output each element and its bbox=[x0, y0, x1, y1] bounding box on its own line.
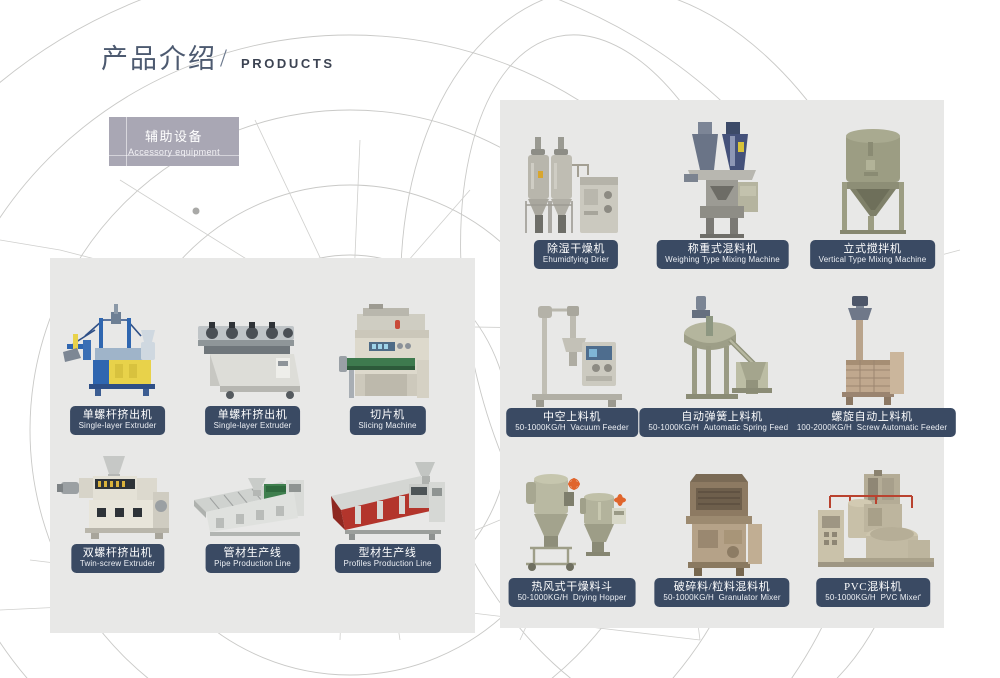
product-name-en-text: Drying Hopper bbox=[573, 593, 627, 602]
vertical-mixing-machine-image bbox=[820, 120, 925, 240]
product-name-en: Pipe Production Line bbox=[214, 559, 291, 569]
single-layer-extruder-image bbox=[190, 300, 315, 405]
product-name-cn: 切片机 bbox=[358, 409, 416, 421]
product-name-en-text: Vacuum Feeder bbox=[571, 423, 629, 432]
product-cell[interactable]: PVC混料机 50-1000KG/H PVC Mixeґ bbox=[808, 468, 938, 608]
product-spec: 50-1000KG/H bbox=[825, 593, 876, 602]
product-label: 破碎料/粒料混料机 50-1000KG/H Granulator Mixer bbox=[654, 578, 789, 607]
product-name-cn: 除湿干燥机 bbox=[543, 243, 609, 255]
product-name-en: Weighing Type Mixing Machine bbox=[665, 255, 780, 265]
product-catalog-page: 产品介绍 / PRODUCTS 辅助设备 Accessory equipment bbox=[0, 0, 1000, 678]
product-label: 单螺杆挤出机 Single-layer Extruder bbox=[70, 406, 166, 435]
product-cell[interactable]: 单螺杆挤出机 Single-layer Extruder bbox=[190, 300, 315, 435]
product-name-cn: 称重式混料机 bbox=[665, 243, 780, 255]
product-label: 切片机 Slicing Machine bbox=[349, 406, 425, 435]
slicing-machine-image bbox=[325, 300, 450, 405]
product-label: 自动弹簧上料机 50-1000KG/H Automatic Spring Fee… bbox=[639, 408, 804, 437]
granulator-mixer-image bbox=[662, 468, 782, 580]
product-name-en: Single-layer Extruder bbox=[214, 421, 292, 431]
automatic-spring-feeder-image bbox=[662, 290, 782, 410]
product-name-en: Profiles Production Line bbox=[343, 559, 431, 569]
weighing-mixing-machine-image bbox=[670, 118, 775, 240]
product-cell[interactable]: 型材生产线 Profiles Production Line bbox=[325, 448, 450, 573]
product-cell[interactable]: 自动弹簧上料机 50-1000KG/H Automatic Spring Fee… bbox=[662, 290, 782, 440]
product-name-en: Twin-screw Extruder bbox=[80, 559, 155, 569]
product-label: 除湿干燥机 Ehumidfying Drier bbox=[534, 240, 618, 269]
product-name-en-text: Automatic Spring Feeder bbox=[704, 423, 796, 432]
product-name-cn: 双螺杆挤出机 bbox=[80, 547, 155, 559]
product-spec: 50-1000KG/H bbox=[663, 593, 714, 602]
page-title-cn: 产品介绍 bbox=[101, 46, 217, 73]
product-cell[interactable]: 切片机 Slicing Machine bbox=[325, 300, 450, 435]
product-name-en-text: Granulator Mixer bbox=[719, 593, 781, 602]
product-name-en: Slicing Machine bbox=[358, 421, 416, 431]
product-name-en: Ehumidfying Drier bbox=[543, 255, 609, 265]
product-label: 双螺杆挤出机 Twin-screw Extruder bbox=[71, 544, 164, 573]
product-name-cn: 螺旋自动上料机 bbox=[797, 411, 947, 423]
single-layer-extruder-image bbox=[55, 300, 180, 405]
product-spec: 50-1000KG/H bbox=[515, 423, 566, 432]
product-name-en-text: PVC Mixeґ bbox=[881, 593, 921, 602]
product-cell[interactable]: 破碎料/粒料混料机 50-1000KG/H Granulator Mixer bbox=[662, 468, 782, 608]
product-name-en: 50-1000KG/H Drying Hopper bbox=[518, 593, 627, 603]
fan-icon bbox=[568, 478, 580, 490]
drying-hopper-image bbox=[512, 468, 632, 580]
product-cell[interactable]: 螺旋自动上料机 100-2000KG/H Screw Automatic Fee… bbox=[812, 290, 932, 440]
product-label: 管材生产线 Pipe Production Line bbox=[205, 544, 300, 573]
product-cell[interactable]: 中空上料机 50-1000KG/H Vacuum Feeder bbox=[512, 290, 632, 440]
product-spec: 50-1000KG/H bbox=[518, 593, 569, 602]
dehumidifying-drier-image bbox=[520, 125, 632, 240]
product-label: 立式搅拌机 Vertical Type Mixing Machine bbox=[810, 240, 936, 269]
product-name-cn: 型材生产线 bbox=[343, 547, 431, 559]
product-cell[interactable]: 除湿干燥机 Ehumidfying Drier bbox=[520, 125, 632, 265]
product-cell[interactable]: 立式搅拌机 Vertical Type Mixing Machine bbox=[820, 120, 925, 265]
page-title-en: PRODUCTS bbox=[241, 56, 335, 71]
product-name-cn: 破碎料/粒料混料机 bbox=[663, 581, 780, 593]
screw-automatic-feeder-image bbox=[812, 290, 932, 410]
title-separator: / bbox=[220, 45, 227, 73]
pipe-production-line-image bbox=[190, 448, 315, 544]
product-label: 螺旋自动上料机 100-2000KG/H Screw Automatic Fee… bbox=[788, 408, 956, 437]
category-badge-accessory-equipment: 辅助设备 Accessory equipment bbox=[109, 117, 239, 166]
pvc-mixer-image bbox=[808, 468, 938, 580]
product-name-cn: 自动弹簧上料机 bbox=[648, 411, 795, 423]
product-label: 型材生产线 Profiles Production Line bbox=[334, 544, 440, 573]
product-label: 中空上料机 50-1000KG/H Vacuum Feeder bbox=[506, 408, 638, 437]
product-name-en: 50-1000KG/H Vacuum Feeder bbox=[515, 423, 629, 433]
product-name-en: Single-layer Extruder bbox=[79, 421, 157, 431]
vacuum-feeder-image bbox=[512, 290, 632, 410]
page-title: 产品介绍 / PRODUCTS bbox=[101, 45, 335, 73]
profiles-production-line-image bbox=[325, 448, 450, 544]
product-label: 热风式干燥料斗 50-1000KG/H Drying Hopper bbox=[509, 578, 636, 607]
product-label: 称重式混料机 Weighing Type Mixing Machine bbox=[656, 240, 789, 269]
product-label: 单螺杆挤出机 Single-layer Extruder bbox=[205, 406, 301, 435]
product-name-en: Vertical Type Mixing Machine bbox=[819, 255, 927, 265]
product-spec: 50-1000KG/H bbox=[648, 423, 699, 432]
product-cell[interactable]: 称重式混料机 Weighing Type Mixing Machine bbox=[670, 118, 775, 265]
product-spec: 100-2000KG/H bbox=[797, 423, 852, 432]
product-name-cn: 单螺杆挤出机 bbox=[214, 409, 292, 421]
product-name-cn: 立式搅拌机 bbox=[819, 243, 927, 255]
category-name-en: Accessory equipment bbox=[128, 147, 220, 157]
product-name-en: 100-2000KG/H Screw Automatic Feeder bbox=[797, 423, 947, 433]
product-name-cn: 热风式干燥料斗 bbox=[518, 581, 627, 593]
product-cell[interactable]: 单螺杆挤出机 Single-layer Extruder bbox=[55, 300, 180, 435]
product-name-cn: PVC混料机 bbox=[825, 581, 921, 593]
product-name-cn: 单螺杆挤出机 bbox=[79, 409, 157, 421]
product-name-cn: 管材生产线 bbox=[214, 547, 291, 559]
fan-icon bbox=[614, 494, 626, 506]
product-name-en: 50-1000KG/H PVC Mixeґ bbox=[825, 593, 921, 603]
product-name-cn: 中空上料机 bbox=[515, 411, 629, 423]
twin-screw-extruder-image bbox=[55, 448, 180, 544]
product-cell[interactable]: 管材生产线 Pipe Production Line bbox=[190, 448, 315, 573]
product-name-en-text: Screw Automatic Feeder bbox=[857, 423, 947, 432]
product-cell[interactable]: 双螺杆挤出机 Twin-screw Extruder bbox=[55, 448, 180, 573]
product-name-en: 50-1000KG/H Granulator Mixer bbox=[663, 593, 780, 603]
product-label: PVC混料机 50-1000KG/H PVC Mixeґ bbox=[816, 578, 930, 607]
product-name-en: 50-1000KG/H Automatic Spring Feeder bbox=[648, 423, 795, 433]
category-name-cn: 辅助设备 bbox=[145, 126, 203, 145]
product-cell[interactable]: 热风式干燥料斗 50-1000KG/H Drying Hopper bbox=[512, 468, 632, 608]
